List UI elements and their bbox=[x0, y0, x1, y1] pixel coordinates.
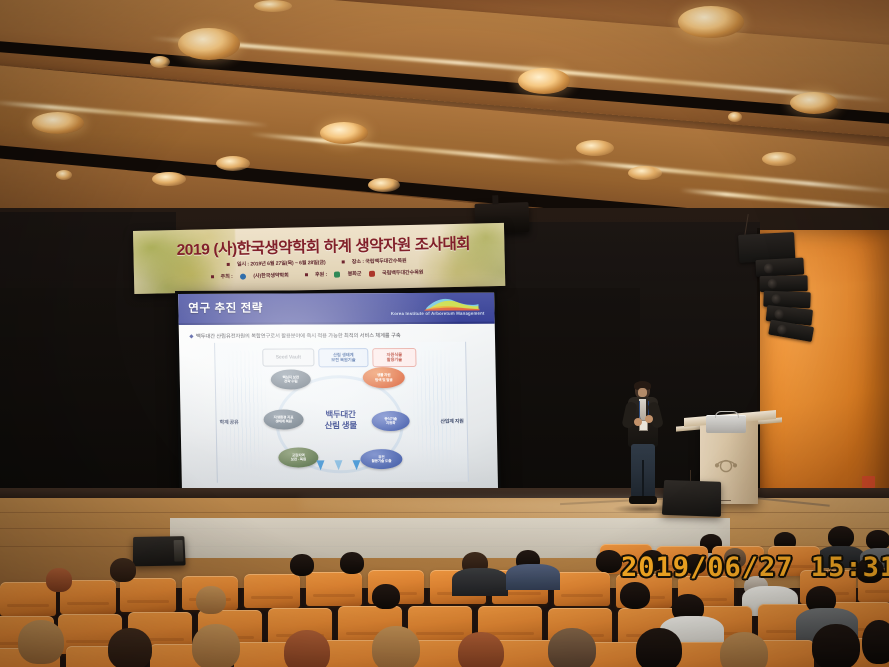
downlight bbox=[678, 6, 744, 38]
mountain-logo-icon bbox=[424, 296, 480, 311]
audience-head bbox=[110, 558, 136, 582]
audience-head bbox=[192, 624, 240, 667]
sponsor-logo-1-icon bbox=[334, 271, 340, 277]
diagram-label-right: 산업계 지원 bbox=[440, 418, 463, 425]
audience-head bbox=[284, 630, 330, 667]
audience-shoulders bbox=[506, 564, 560, 590]
line-array-box bbox=[755, 258, 804, 277]
diagram-topbox-2: 산림 생태계 보전 복원기술 bbox=[318, 348, 368, 367]
audience-head bbox=[372, 584, 400, 609]
banner-place: 장소 : 국립백두대간수목원 bbox=[352, 258, 407, 265]
down-arrow-icon bbox=[316, 460, 324, 470]
downlight bbox=[368, 178, 400, 192]
downlight bbox=[150, 56, 170, 68]
seat bbox=[244, 574, 300, 608]
presenter-hand-left bbox=[634, 418, 642, 426]
audience-head bbox=[866, 530, 889, 550]
stage-monitor-wedge bbox=[662, 480, 721, 517]
projection-screen: 연구 추진 전략 Korea Institute of Arboretum Ma… bbox=[175, 290, 501, 497]
podium-control-unit bbox=[706, 415, 746, 433]
ring-node-4: 증식기술 지원화 bbox=[371, 411, 409, 431]
audience-head bbox=[812, 624, 860, 667]
ring-node-3: 자생환경 지표 생태계 복원 bbox=[263, 409, 303, 429]
audience-head bbox=[620, 582, 650, 609]
downlight bbox=[216, 156, 250, 171]
institute-logo-caption: Korea Institute of Arboretum Management bbox=[391, 311, 485, 316]
audience-head bbox=[596, 550, 622, 573]
control-unit-handle bbox=[715, 411, 739, 418]
diagram-topbox-3: 자원식물 활용기술 bbox=[372, 348, 416, 367]
downlight bbox=[254, 0, 292, 12]
downlight bbox=[628, 166, 662, 180]
audience-head bbox=[372, 626, 420, 667]
seat bbox=[120, 578, 176, 612]
presenter bbox=[622, 382, 664, 510]
downlight bbox=[320, 122, 368, 144]
ring-center-label: 백두대간 산림 생물 bbox=[307, 409, 373, 432]
slide-header: 연구 추진 전략 Korea Institute of Arboretum Ma… bbox=[178, 293, 495, 325]
audience-head bbox=[548, 628, 596, 667]
line-array-box bbox=[760, 275, 808, 292]
audience-head bbox=[108, 628, 152, 667]
downlight bbox=[178, 28, 240, 60]
audience-head bbox=[862, 620, 889, 664]
banner-date: 일시 : 2019년 6월 27일(목) ~ 6월 28일(금) bbox=[237, 260, 326, 268]
ring-node-1: 핵심지 보전 전략 수립 bbox=[271, 369, 311, 389]
audience-head bbox=[290, 554, 314, 576]
down-arrow-icon bbox=[334, 460, 342, 470]
banner-sponsor-org1: 봉화군 bbox=[348, 271, 362, 277]
presenter-shoes bbox=[629, 496, 657, 504]
diagram-stripes-left bbox=[220, 351, 268, 469]
audience-shoulders bbox=[452, 568, 508, 596]
presenter-hand-right bbox=[645, 415, 653, 423]
audience-head bbox=[828, 526, 854, 548]
slide-header-rule bbox=[179, 322, 495, 325]
sponsor-logo-2-icon bbox=[369, 270, 375, 276]
downlight bbox=[762, 152, 796, 166]
ceiling bbox=[0, 0, 889, 232]
audience-head bbox=[340, 552, 364, 574]
audience-seating bbox=[0, 524, 889, 667]
downlight bbox=[518, 68, 570, 94]
downlight bbox=[576, 140, 614, 156]
auditorium-photo: 2019 (사)한국생약학회 하계 생약자원 조사대회 일시 : 2019년 6… bbox=[0, 0, 889, 667]
bullet-diamond-icon bbox=[189, 334, 193, 338]
banner-host-label: 주최 : bbox=[221, 274, 233, 280]
slide-bullet: 백두대간 산림유전자원의 복합연구로서 활용분야에 즉시 적용 가능한 최적의 … bbox=[190, 331, 486, 340]
seat bbox=[306, 572, 362, 606]
audience-head bbox=[720, 632, 768, 667]
wall-marker bbox=[862, 476, 875, 488]
seat bbox=[554, 572, 610, 606]
diagram-ring: 핵심지 보전 전략 수립 생물 자원 탐색 및 발굴 자생환경 지표 생태계 복… bbox=[275, 375, 405, 474]
audience-head bbox=[458, 632, 504, 667]
institute-logo: Korea Institute of Arboretum Management bbox=[402, 295, 489, 322]
diagram-label-left: 학계 공유 bbox=[220, 419, 239, 426]
slide-title: 연구 추진 전략 bbox=[188, 300, 263, 316]
audience-head bbox=[18, 620, 64, 664]
camera-timestamp: 2019/06/27 15:31 bbox=[621, 552, 889, 583]
downlight bbox=[32, 112, 84, 134]
ring-node-2: 생물 자원 탐색 및 발굴 bbox=[363, 367, 405, 388]
slide-diagram: Seed Vault 산림 생태계 보전 복원기술 자원식물 활용기술 핵심지 … bbox=[214, 342, 467, 483]
audience-head bbox=[636, 628, 682, 667]
audience-head bbox=[46, 568, 72, 592]
presenter-leg-split bbox=[642, 460, 644, 496]
diagram-stripes-right bbox=[412, 350, 460, 468]
slide-surface: 연구 추진 전략 Korea Institute of Arboretum Ma… bbox=[178, 293, 498, 494]
diagram-arrows bbox=[312, 460, 372, 476]
down-arrow-icon bbox=[352, 460, 360, 470]
downlight bbox=[728, 112, 742, 122]
line-array-speaker bbox=[760, 230, 834, 353]
event-banner: 2019 (사)한국생약학회 하계 생약자원 조사대회 일시 : 2019년 6… bbox=[133, 223, 505, 294]
audience-head bbox=[196, 586, 226, 614]
diagram-topbox-1: Seed Vault bbox=[262, 348, 314, 366]
projector-mount bbox=[492, 195, 498, 204]
downlight bbox=[152, 172, 186, 186]
presenter-face bbox=[638, 388, 647, 397]
downlight bbox=[790, 92, 838, 114]
banner-sponsor-org2: 국립백두대간수목원 bbox=[382, 270, 423, 277]
banner-sponsor-label: 후원 : bbox=[315, 272, 327, 278]
host-logo-icon bbox=[240, 273, 246, 279]
downlight bbox=[56, 170, 72, 180]
banner-host-org: (사)한국생약학회 bbox=[253, 273, 288, 280]
